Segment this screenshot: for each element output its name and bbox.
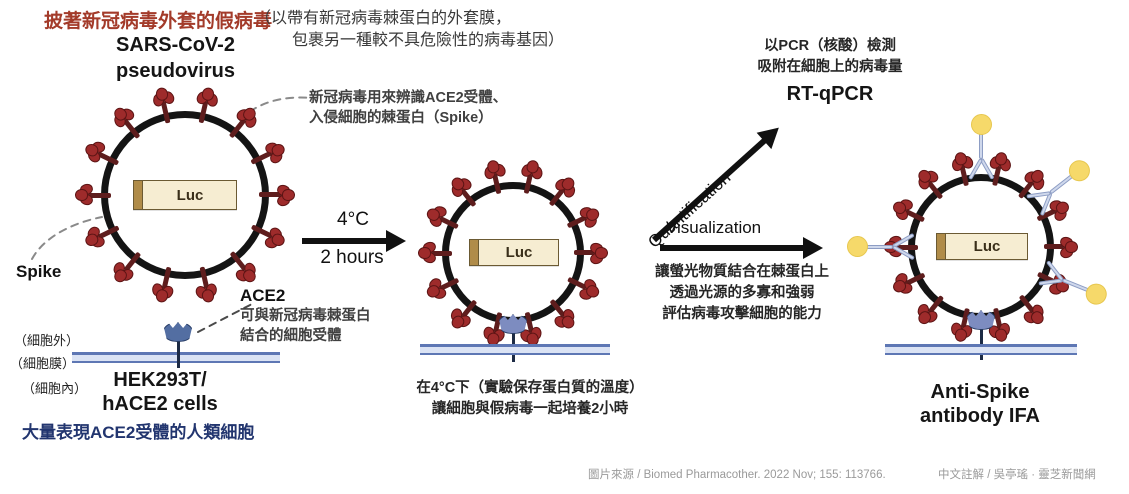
luc-label-right: Luc [946, 238, 1027, 255]
step-arrow-bottom-label: 2 hours [300, 247, 404, 269]
ace2-label: ACE2 [240, 286, 285, 306]
step-arrow-top-label: 4°C [303, 209, 403, 231]
ace2-receptor-left [163, 322, 193, 366]
visualization-arrow-head [803, 237, 823, 259]
luc-label-left: Luc [143, 187, 236, 204]
footer-credit: 中文註解 / 吳亭瑤 · 靈芝新聞網 [938, 466, 1096, 482]
ace2-note-line2: 結合的細胞受體 [240, 326, 342, 346]
pseudovirus-particle-middle: Luc [442, 182, 584, 324]
antibody-stem [865, 245, 893, 249]
fluorophore-dot [847, 237, 868, 258]
visualization-note-line2: 透過光源的多寡和強弱 [624, 283, 860, 303]
antibody-stem [979, 132, 983, 159]
step-arrow-shaft [302, 238, 388, 244]
luciferase-gene-box-left: Luc [133, 180, 237, 210]
subject-name-line2: pseudovirus [68, 59, 283, 83]
figure-title-paren-line2: 包裹另一種較不具危險性的病毒基因） [292, 30, 564, 51]
luciferase-gene-box-middle: Luc [469, 239, 559, 266]
spike-note-line2: 入侵細胞的棘蛋白（Spike） [309, 108, 493, 128]
ace2-note-line1: 可與新冠病毒棘蛋白 [240, 306, 371, 326]
luc-label-middle: Luc [479, 244, 558, 261]
visualization-method-line2: antibody IFA [860, 404, 1100, 428]
footer-source: 圖片來源 / Biomed Pharmacother. 2022 Nov; 15… [588, 466, 886, 482]
fluorophore-dot [971, 114, 992, 135]
middle-caption-line2: 讓細胞與假病毒一起培養2小時 [385, 399, 675, 419]
visualization-arrow-label: Visualization [666, 218, 761, 238]
subject-name-line1: SARS-CoV-2 [68, 33, 283, 57]
visualization-arrow-shaft [660, 245, 805, 251]
pseudovirus-particle-left: Luc [101, 111, 269, 279]
visualization-method-line1: Anti-Spike [860, 380, 1100, 404]
figure-canvas: 披著新冠病毒外套的假病毒 （以帶有新冠病毒棘蛋白的外套膜， 包裹另一種較不具危險… [0, 0, 1129, 494]
luc-box-segment [937, 234, 946, 259]
quantification-method: RT-qPCR [690, 82, 970, 106]
cell-membrane-right [885, 344, 1077, 358]
figure-title-zh: 披著新冠病毒外套的假病毒 [44, 6, 272, 33]
spike-note-line1: 新冠病毒用來辨識ACE2受體、 [309, 88, 507, 108]
cell-line-caption: 大量表現ACE2受體的人類細胞 [22, 418, 254, 443]
middle-caption-line1: 在4°C下（實驗保存蛋白質的溫度） [385, 378, 675, 398]
visualization-note-line3: 評估病毒攻擊細胞的能力 [624, 304, 860, 324]
quantification-arrow-label: Quantification [644, 168, 735, 252]
spike-label: Spike [16, 262, 61, 282]
cell-membrane-middle [420, 344, 610, 358]
visualization-note-line1: 讓螢光物質結合在棘蛋白上 [624, 262, 860, 282]
quantification-note-line2: 吸附在細胞上的病毒量 [690, 57, 970, 77]
luciferase-gene-box-right: Luc [936, 233, 1028, 260]
luc-box-segment [134, 181, 143, 209]
cell-line-name-line2: hACE2 cells [55, 392, 265, 416]
quantification-note-line1: 以PCR（核酸）檢測 [690, 36, 970, 56]
luc-box-segment [470, 240, 479, 265]
fluorophore-dot [1083, 280, 1110, 307]
figure-title-paren-line1: （以帶有新冠病毒棘蛋白的外套膜， [255, 8, 511, 29]
cell-line-name-line1: HEK293T/ [55, 368, 265, 392]
label-extracellular: （細胞外） [14, 330, 79, 349]
pseudovirus-particle-right: Luc [908, 174, 1054, 320]
